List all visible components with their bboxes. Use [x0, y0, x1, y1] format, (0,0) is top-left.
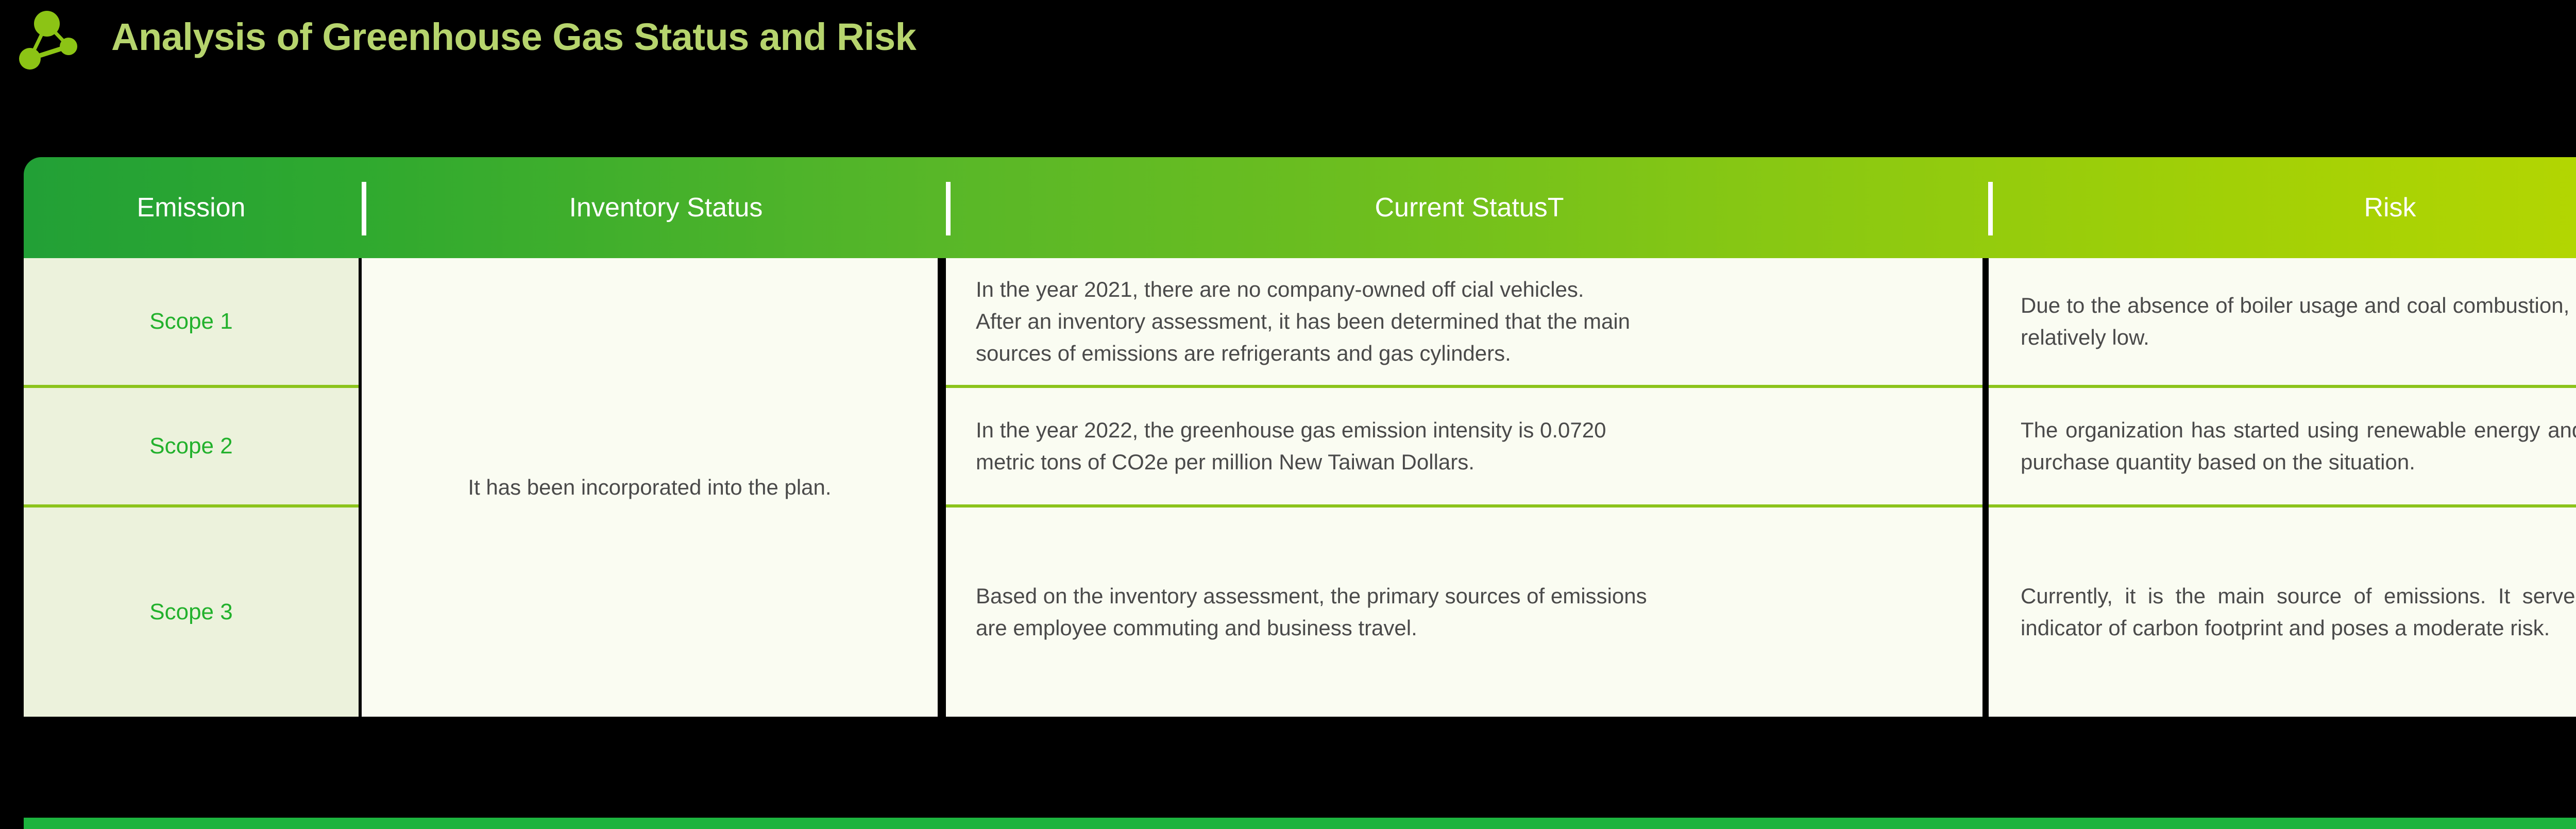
inventory-status-merged-cell: It has been incorporated into the plan. — [362, 258, 938, 717]
current-status-line: In the year 2022, the greenhouse gas emi… — [976, 414, 1958, 446]
column-inventory-status: It has been incorporated into the plan. — [362, 258, 938, 717]
table-row: The organization has started using renew… — [1989, 388, 2576, 504]
column-header-risk: Risk — [1993, 157, 2576, 258]
inventory-status-text: It has been incorporated into the plan. — [468, 471, 831, 503]
table-row: Scope 1 — [24, 258, 359, 385]
scope-label-1: Scope 1 — [149, 308, 232, 335]
scope-label-3: Scope 3 — [149, 598, 232, 626]
page-title: Analysis of Greenhouse Gas Status and Ri… — [111, 9, 916, 65]
table-row: Due to the absence of boiler usage and c… — [1989, 258, 2576, 385]
table-row: In the year 2022, the greenhouse gas emi… — [946, 388, 1982, 504]
header-separator-2 — [946, 182, 951, 235]
table-row: Scope 3 — [24, 507, 359, 717]
risk-text: Due to the absence of boiler usage and c… — [2021, 290, 2576, 353]
column-header-emission: Emission — [24, 157, 359, 258]
current-status-line: Based on the inventory assessment, the p… — [976, 580, 1958, 612]
current-status-line: sources of emissions are refrigerants an… — [976, 337, 1958, 369]
greenhouse-gas-table: Emission Inventory Status Current Status… — [0, 157, 2576, 729]
current-status-line: metric tons of CO2e per million New Taiw… — [976, 446, 1958, 478]
risk-text: Currently, it is the main source of emis… — [2021, 580, 2576, 644]
header-separator-1 — [362, 182, 366, 235]
table-row: Currently, it is the main source of emis… — [1989, 507, 2576, 717]
column-header-inventory-status: Inventory Status — [366, 157, 965, 258]
table-row: Based on the inventory assessment, the p… — [946, 507, 1982, 717]
current-status-line: In the year 2021, there are no company-o… — [976, 274, 1958, 306]
column-header-current-status: Current StatusT — [951, 157, 1988, 258]
table-header-row: Emission Inventory Status Current Status… — [24, 157, 2576, 258]
scope-label-2: Scope 2 — [149, 432, 232, 460]
molecule-network-icon — [19, 9, 90, 71]
table-row: Scope 2 — [24, 388, 359, 504]
table-row: In the year 2021, there are no company-o… — [946, 258, 1982, 385]
page-header: Analysis of Greenhouse Gas Status and Ri… — [0, 0, 2576, 155]
table-body: Scope 1 Scope 2 Scope 3 It has been inco… — [0, 258, 2576, 729]
column-emission: Scope 1 Scope 2 Scope 3 — [24, 258, 359, 717]
current-status-line: After an inventory assessment, it has be… — [976, 306, 1958, 337]
table-bottom-bar — [24, 818, 2576, 829]
current-status-line: are employee commuting and business trav… — [976, 612, 1958, 644]
header-separator-3 — [1988, 182, 1993, 235]
risk-text: The organization has started using renew… — [2021, 414, 2576, 478]
column-current-status: In the year 2021, there are no company-o… — [946, 258, 1982, 717]
column-risk: Due to the absence of boiler usage and c… — [1989, 258, 2576, 717]
